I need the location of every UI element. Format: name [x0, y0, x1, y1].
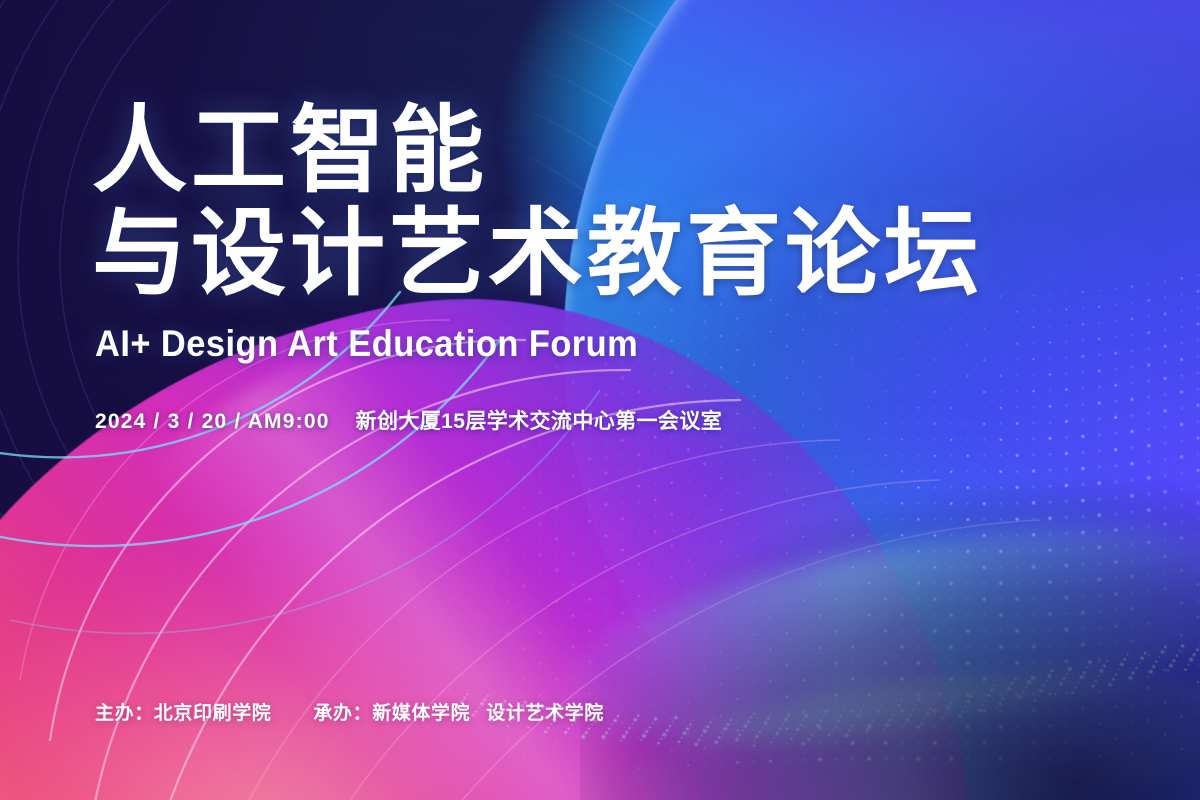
poster-text: 人工智能 与设计艺术教育论坛 AI+ Design Art Education …: [0, 0, 1200, 800]
co-host-organization: 承办：新媒体学院: [313, 703, 470, 724]
host-organization: 主办：北京印刷学院: [95, 703, 271, 724]
event-poster: 人工智能 与设计艺术教育论坛 AI+ Design Art Education …: [0, 0, 1200, 800]
organizer-credits: 主办：北京印刷学院承办：新媒体学院设计艺术学院: [95, 698, 604, 725]
event-venue: 新创大厦15层学术交流中心第一会议室: [356, 410, 723, 433]
event-date: 2024 / 3 / 20 / AM9:00: [95, 410, 330, 433]
page-title-line-1: 人工智能: [92, 104, 488, 199]
subtitle-english: AI+ Design Art Education Forum: [95, 323, 638, 365]
page-title-line-2: 与设计艺术教育论坛: [92, 207, 983, 302]
event-meta: 2024 / 3 / 20 / AM9:00新创大厦15层学术交流中心第一会议室: [95, 405, 722, 435]
co-host-organization-2: 设计艺术学院: [486, 703, 604, 724]
